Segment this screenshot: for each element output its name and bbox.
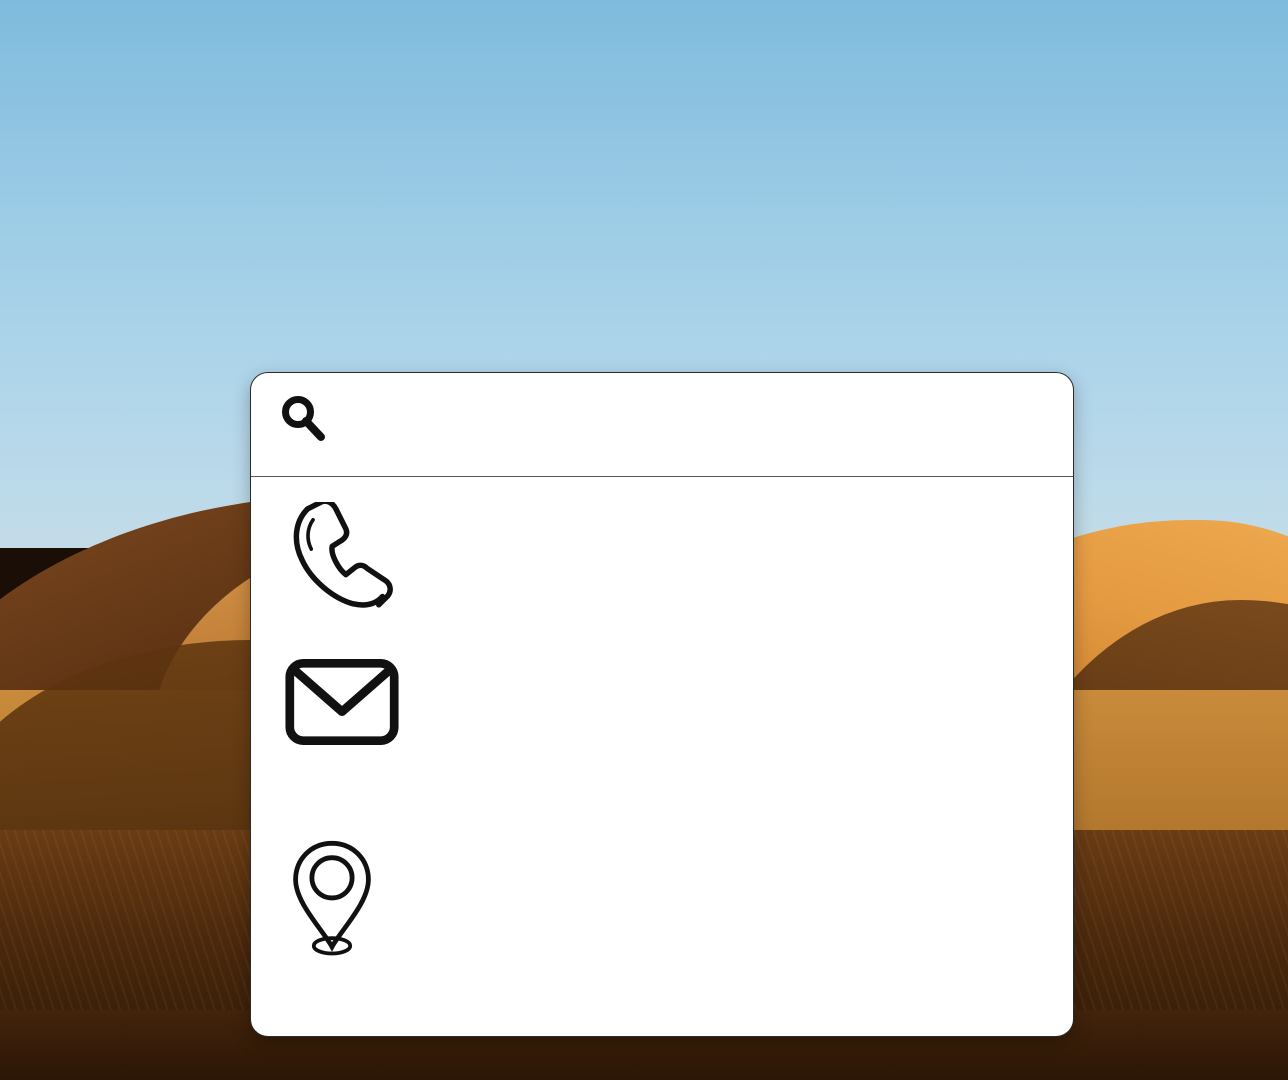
postal-address bbox=[387, 885, 1047, 943]
flyer-canvas bbox=[0, 0, 1288, 1080]
card-header bbox=[251, 373, 1073, 477]
card-title bbox=[251, 421, 1073, 429]
desert-scrub-right bbox=[1090, 880, 1210, 906]
desert-scrub-left bbox=[120, 690, 240, 716]
search-icon[interactable] bbox=[277, 393, 329, 445]
contact-row-email[interactable] bbox=[277, 617, 1047, 787]
map-pin-icon bbox=[277, 831, 387, 957]
email-address bbox=[407, 672, 1047, 732]
phone-icon bbox=[277, 502, 427, 610]
envelope-icon bbox=[277, 657, 407, 747]
card-body bbox=[251, 477, 1073, 996]
contact-card bbox=[250, 372, 1074, 1037]
contact-row-phone[interactable] bbox=[277, 495, 1047, 617]
contact-row-address[interactable] bbox=[277, 831, 1047, 996]
